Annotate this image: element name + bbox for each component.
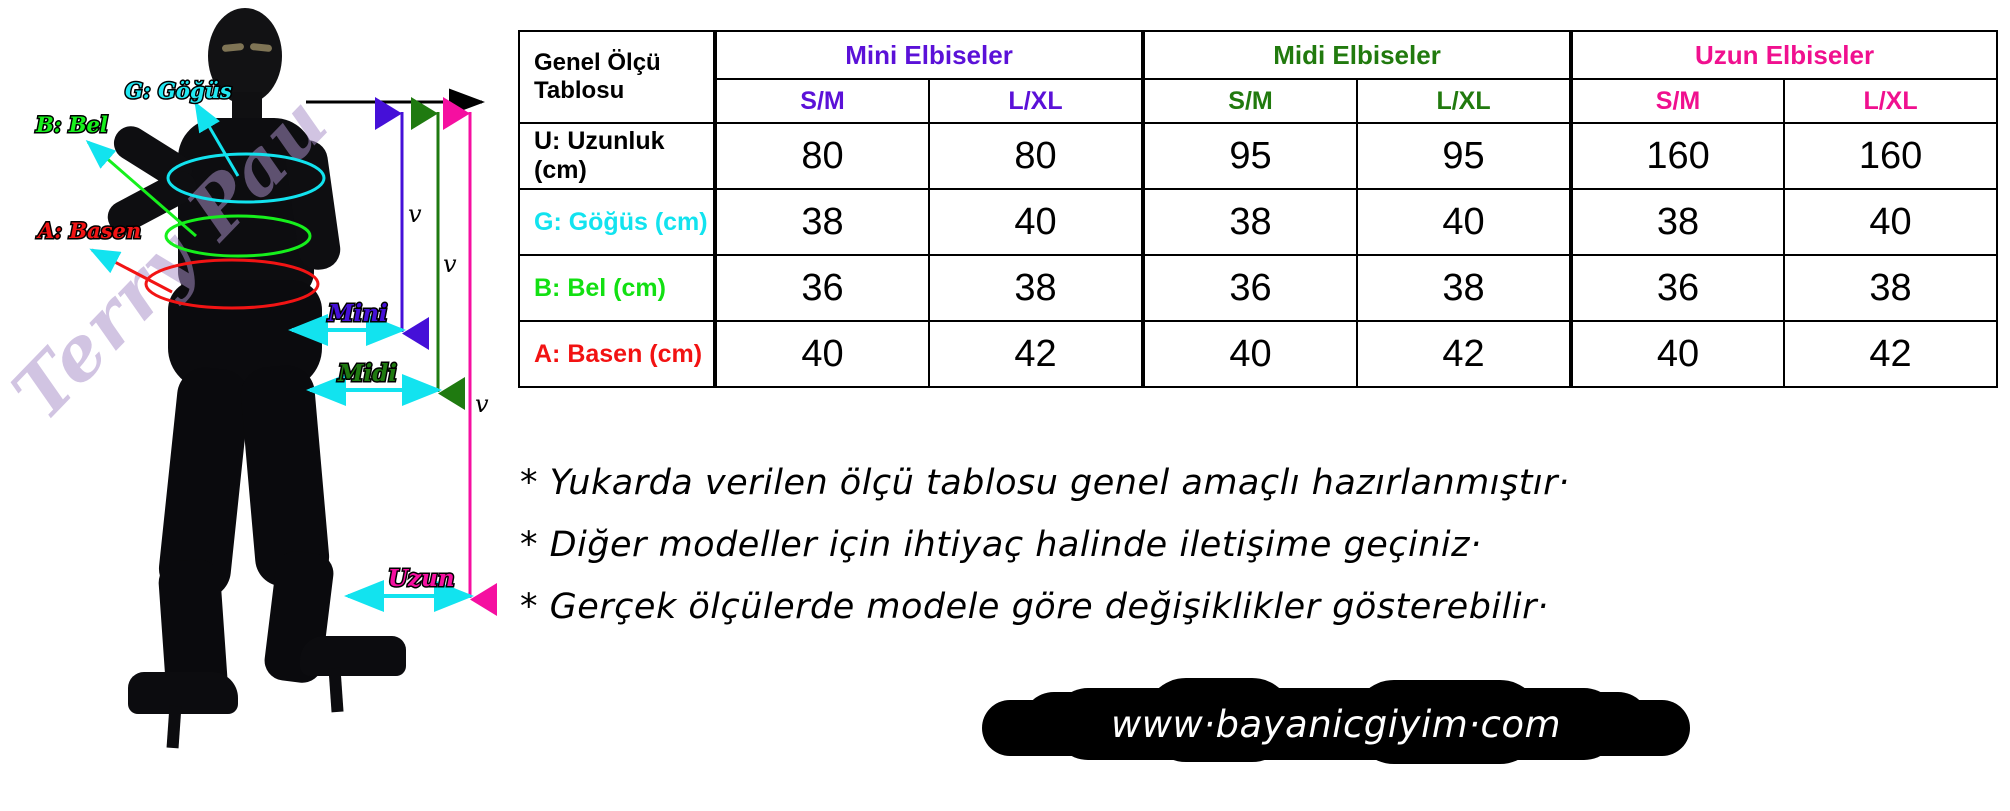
size-header-uzun-lxl: L/XL — [1784, 79, 1997, 123]
row-label-gogus: G: Göğüs (cm) — [519, 189, 715, 255]
label-midi: Midi — [338, 360, 397, 387]
row-label-bel: B: Bel (cm) — [519, 255, 715, 321]
note-line-3: * Gerçek ölçülerde modele göre değişikli… — [520, 576, 1990, 638]
cell-uzunluk-mini-sm: 80 — [715, 123, 929, 189]
label-bel: B: Bel — [36, 112, 108, 137]
cell-basen-midi-sm: 40 — [1143, 321, 1357, 387]
label-uzun: Uzun — [388, 565, 455, 592]
cell-gogus-midi-sm: 38 — [1143, 189, 1357, 255]
cell-uzunluk-uzun-sm: 160 — [1571, 123, 1784, 189]
cell-basen-midi-lxl: 42 — [1357, 321, 1571, 387]
cell-basen-mini-lxl: 42 — [929, 321, 1143, 387]
hip-measure-ellipse — [146, 260, 318, 308]
cell-basen-mini-sm: 40 — [715, 321, 929, 387]
website-url-text: www·bayanicgiyim·com — [1052, 688, 1620, 760]
label-gogus: G: Göğüs — [125, 78, 232, 103]
cell-bel-uzun-lxl: 38 — [1784, 255, 1997, 321]
table-header-group-row: Genel Ölçü Tablosu Mini Elbiseler Midi E… — [519, 31, 1997, 79]
size-table-container: Genel Ölçü Tablosu Mini Elbiseler Midi E… — [518, 30, 1996, 388]
cell-bel-mini-lxl: 38 — [929, 255, 1143, 321]
notes-section: * Yukarda verilen ölçü tablosu genel ama… — [520, 452, 1990, 638]
cell-uzunluk-midi-lxl: 95 — [1357, 123, 1571, 189]
cell-gogus-mini-lxl: 40 — [929, 189, 1143, 255]
cell-bel-uzun-sm: 36 — [1571, 255, 1784, 321]
measurement-figure-panel: Terry Pau — [0, 0, 520, 811]
table-row: A: Basen (cm) 40 42 40 42 40 42 — [519, 321, 1997, 387]
midi-length-glyph: v — [443, 250, 457, 278]
group-header-uzun: Uzun Elbiseler — [1571, 31, 1997, 79]
table-row: G: Göğüs (cm) 38 40 38 40 38 40 — [519, 189, 1997, 255]
size-header-midi-lxl: L/XL — [1357, 79, 1571, 123]
label-mini: Mini — [328, 300, 388, 327]
cell-uzunluk-uzun-lxl: 160 — [1784, 123, 1997, 189]
label-basen: A: Basen — [38, 218, 141, 243]
table-row: U: Uzunluk (cm) 80 80 95 95 160 160 — [519, 123, 1997, 189]
size-header-mini-sm: S/M — [715, 79, 929, 123]
cell-basen-uzun-lxl: 42 — [1784, 321, 1997, 387]
table-header-size-row: S/M L/XL S/M L/XL S/M L/XL — [519, 79, 1997, 123]
table-corner-label: Genel Ölçü Tablosu — [519, 31, 715, 123]
cell-gogus-mini-sm: 38 — [715, 189, 929, 255]
group-header-mini: Mini Elbiseler — [715, 31, 1143, 79]
size-header-mini-lxl: L/XL — [929, 79, 1143, 123]
size-header-uzun-sm: S/M — [1571, 79, 1784, 123]
note-line-2: * Diğer modeller için ihtiyaç halinde il… — [520, 514, 1990, 576]
cell-bel-midi-lxl: 38 — [1357, 255, 1571, 321]
cell-basen-uzun-sm: 40 — [1571, 321, 1784, 387]
uzun-length-glyph: v — [475, 390, 489, 418]
cell-gogus-uzun-lxl: 40 — [1784, 189, 1997, 255]
cell-gogus-uzun-sm: 38 — [1571, 189, 1784, 255]
cell-bel-midi-sm: 36 — [1143, 255, 1357, 321]
size-header-midi-sm: S/M — [1143, 79, 1357, 123]
cell-uzunluk-midi-sm: 95 — [1143, 123, 1357, 189]
group-header-midi: Midi Elbiseler — [1143, 31, 1571, 79]
bust-measure-ellipse — [168, 154, 324, 202]
cell-uzunluk-mini-lxl: 80 — [929, 123, 1143, 189]
cell-gogus-midi-lxl: 40 — [1357, 189, 1571, 255]
size-chart-page: Terry Pau — [0, 0, 2010, 811]
note-line-1: * Yukarda verilen ölçü tablosu genel ama… — [520, 452, 1990, 514]
table-row: B: Bel (cm) 36 38 36 38 36 38 — [519, 255, 1997, 321]
cell-bel-mini-sm: 36 — [715, 255, 929, 321]
website-banner[interactable]: www·bayanicgiyim·com — [1052, 688, 1620, 760]
row-label-uzunluk: U: Uzunluk (cm) — [519, 123, 715, 189]
size-table: Genel Ölçü Tablosu Mini Elbiseler Midi E… — [518, 30, 1998, 388]
mini-length-glyph: v — [408, 200, 422, 228]
bust-leader-line — [196, 104, 238, 176]
waist-measure-ellipse — [166, 216, 310, 256]
row-label-basen: A: Basen (cm) — [519, 321, 715, 387]
